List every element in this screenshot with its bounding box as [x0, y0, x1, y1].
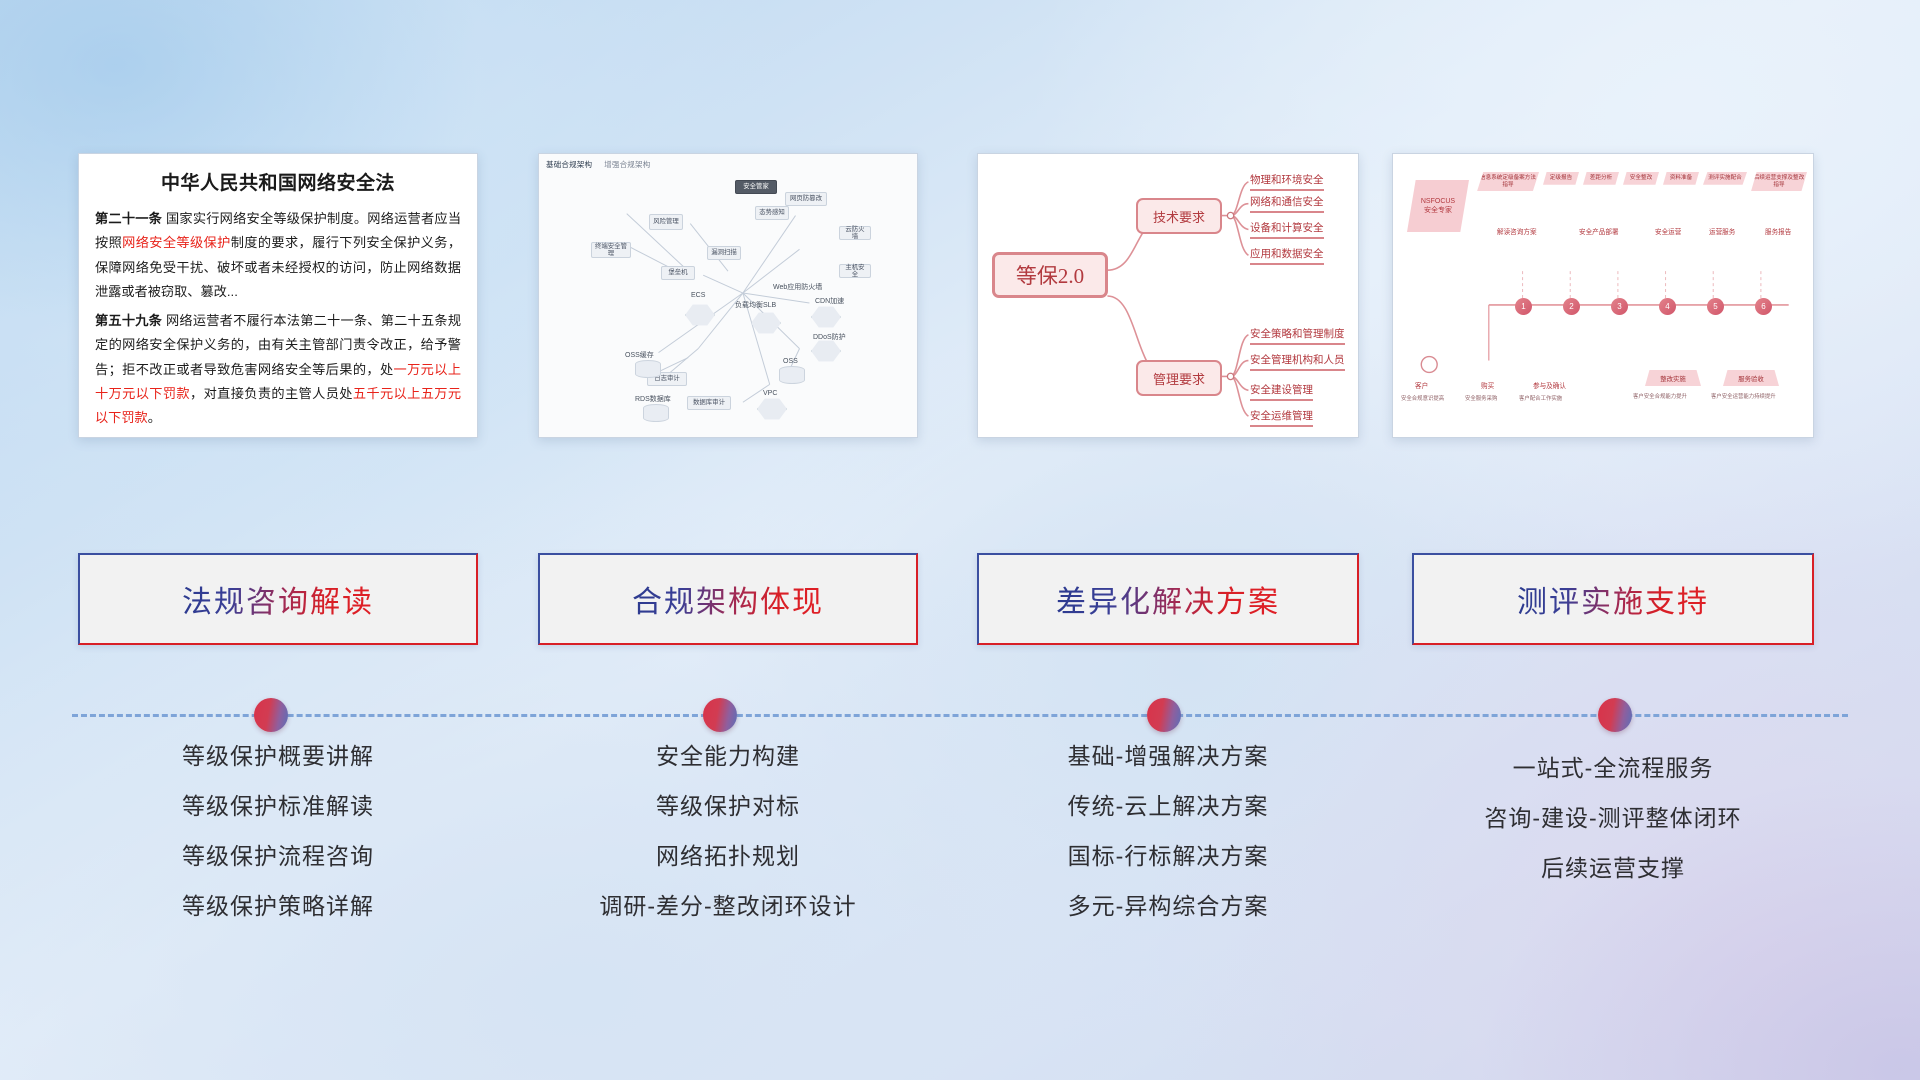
customer-avatar-icon — [1421, 357, 1437, 373]
mindmap-branch-technical: 技术要求 — [1136, 198, 1222, 234]
arch-label-ddos: DDoS防护 — [813, 332, 846, 342]
arch-node-bastion: 堡垒机 — [661, 266, 695, 280]
arch-label-ecs: ECS — [691, 292, 705, 299]
nsfocus-customer-label: 客户 — [1415, 380, 1428, 390]
nsfocus-bottom-1: 购买 — [1481, 380, 1494, 390]
arch-label-waf: Web应用防火墙 — [773, 282, 822, 292]
section-items-3: 基础-增强解决方案 传统-云上解决方案 国标-行标解决方案 多元-异构综合方案 — [977, 745, 1359, 945]
section-title-box-2[interactable]: 合规架构体现 — [538, 553, 918, 645]
section-items-2: 安全能力构建 等级保护对标 网络拓扑规划 调研-差分-整改闭环设计 — [538, 745, 918, 945]
nsfocus-brand-sub: 安全专家 — [1424, 206, 1452, 215]
list-item: 调研-差分-整改闭环设计 — [538, 895, 918, 918]
list-item: 国标-行标解决方案 — [977, 845, 1359, 868]
arch-node-endpoint: 终端安全管理 — [591, 242, 631, 258]
law-paragraph-1: 第二十一条 国家实行网络安全等级保护制度。网络运营者应当按照网络安全等级保护制度… — [95, 207, 461, 305]
timeline — [0, 693, 1920, 737]
arch-node-risk: 风险管理 — [649, 214, 683, 230]
arch-node-security-manager: 安全管家 — [735, 180, 777, 194]
mindmap-collapse-icon-tech — [1227, 212, 1233, 218]
nsfocus-step-2: 2 — [1563, 298, 1580, 315]
mindmap-branch-management: 管理要求 — [1136, 360, 1222, 396]
list-item: 多元-异构综合方案 — [977, 895, 1359, 918]
list-item: 等级保护流程咨询 — [78, 845, 478, 868]
arch-node-antitamper: 网页防篡改 — [785, 192, 827, 206]
nsfocus-brand-name: NSFOCUS — [1421, 197, 1455, 206]
arch-label-oss: OSS — [783, 358, 798, 365]
arch-node-situation: 态势感知 — [755, 206, 789, 220]
nsfocus-card: NSFOCUS 安全专家 信息系统定级备案方法指导 定级报告 差距分析 安全整改… — [1392, 153, 1814, 438]
architecture-diagram: 基础合规架构增强合规架构 安全管家 风险管理 — [539, 154, 917, 437]
list-item: 后续运营支撑 — [1412, 857, 1814, 880]
list-item: 传统-云上解决方案 — [977, 795, 1359, 818]
section-items-4: 一站式-全流程服务 咨询-建设-测评整体闭环 后续运营支撑 — [1412, 757, 1814, 907]
nsfocus-chip-7: 后续运营支撑及整改指导 — [1751, 172, 1807, 191]
arch-label-cdn: CDN加速 — [815, 296, 844, 306]
arch-label-rds: RDS数据库 — [635, 394, 671, 404]
mindmap-leaf-mgmt-3: 安全建设管理 — [1250, 382, 1313, 401]
nsfocus-brand-badge: NSFOCUS 安全专家 — [1407, 180, 1469, 232]
mindmap-root-node: 等保2.0 — [992, 252, 1108, 298]
list-item: 基础-增强解决方案 — [977, 745, 1359, 768]
architecture-connector-lines — [539, 154, 917, 437]
list-item: 等级保护标准解读 — [78, 795, 478, 818]
law-article-label-1: 第二十一条 — [95, 211, 162, 226]
list-item: 等级保护概要讲解 — [78, 745, 478, 768]
section-title-box-3[interactable]: 差异化解决方案 — [977, 553, 1359, 645]
mindmap-leaf-tech-1: 物理和环境安全 — [1250, 172, 1324, 191]
nsfocus-bottom-2: 参与及确认 — [1533, 380, 1566, 390]
nsfocus-service-5: 服务报告 — [1765, 226, 1791, 236]
nsfocus-bottom-4: 服务验收 — [1723, 370, 1779, 386]
nsfocus-service-1: 解读咨询方案 — [1497, 226, 1537, 236]
law-text-2c: 。 — [148, 410, 161, 425]
nsfocus-step-4: 4 — [1659, 298, 1676, 315]
nsfocus-chip-6: 测评实施配合 — [1703, 172, 1747, 185]
section-items-1: 等级保护概要讲解 等级保护标准解读 等级保护流程咨询 等级保护策略详解 — [78, 745, 478, 945]
timeline-dot-4[interactable] — [1598, 698, 1632, 732]
list-item: 网络拓扑规划 — [538, 845, 918, 868]
nsfocus-chip-2: 定级报告 — [1543, 172, 1579, 185]
mindmap-card: 等保2.0 技术要求 物理和环境安全 网络和通信安全 设备和计算安全 应用和数据… — [977, 153, 1359, 438]
arch-node-cloudfw: 云防火墙 — [839, 226, 871, 240]
nsfocus-step-3: 3 — [1611, 298, 1628, 315]
arch-node-hostsec: 主机安全 — [839, 264, 871, 278]
section-title-box-4[interactable]: 测评实施支持 — [1412, 553, 1814, 645]
mindmap-leaf-tech-4: 应用和数据安全 — [1250, 246, 1324, 265]
law-article-label-2: 第五十九条 — [95, 313, 162, 328]
law-highlight-1: 网络安全等级保护 — [122, 235, 231, 250]
architecture-card: 基础合规架构增强合规架构 安全管家 风险管理 — [538, 153, 918, 438]
mindmap-diagram: 等保2.0 技术要求 物理和环境安全 网络和通信安全 设备和计算安全 应用和数据… — [978, 154, 1358, 437]
nsfocus-step-1: 1 — [1515, 298, 1532, 315]
nsfocus-bottom-sub-2: 客户配合工作实施 — [1519, 394, 1562, 402]
timeline-dot-3[interactable] — [1147, 698, 1181, 732]
timeline-dot-1[interactable] — [254, 698, 288, 732]
nsfocus-chip-4: 安全整改 — [1623, 172, 1659, 185]
arch-cyl-oss — [779, 366, 805, 384]
nsfocus-chip-5: 资料准备 — [1663, 172, 1699, 185]
arch-label-vpc: VPC — [763, 390, 777, 397]
nsfocus-service-4: 运营服务 — [1709, 226, 1735, 236]
nsfocus-bottom-3: 整改实施 — [1645, 370, 1701, 386]
list-item: 安全能力构建 — [538, 745, 918, 768]
section-title-1: 法规咨询解读 — [182, 577, 374, 621]
mindmap-leaf-mgmt-4: 安全运维管理 — [1250, 408, 1313, 427]
section-title-3: 差异化解决方案 — [1056, 577, 1280, 621]
list-item: 等级保护策略详解 — [78, 895, 478, 918]
nsfocus-step-6: 6 — [1755, 298, 1772, 315]
nsfocus-chip-3: 差距分析 — [1583, 172, 1619, 185]
image-card-row: 中华人民共和国网络安全法 第二十一条 国家实行网络安全等级保护制度。网络运营者应… — [0, 153, 1920, 438]
nsfocus-diagram: NSFOCUS 安全专家 信息系统定级备案方法指导 定级报告 差距分析 安全整改… — [1393, 154, 1813, 437]
nsfocus-service-2: 安全产品部署 — [1579, 226, 1619, 236]
timeline-dashed-line — [72, 714, 1848, 717]
arch-cyl-rds — [643, 404, 669, 422]
arch-node-dbaudit: 数据库审计 — [687, 396, 731, 410]
timeline-dot-2[interactable] — [703, 698, 737, 732]
mindmap-collapse-icon-mgmt — [1227, 373, 1233, 379]
law-card-body: 中华人民共和国网络安全法 第二十一条 国家实行网络安全等级保护制度。网络运营者应… — [79, 154, 477, 438]
nsfocus-bottom-sub-1: 安全服务采购 — [1465, 394, 1497, 402]
mindmap-leaf-tech-3: 设备和计算安全 — [1250, 220, 1324, 239]
arch-label-osscache: OSS缓存 — [625, 350, 654, 360]
nsfocus-service-3: 安全运营 — [1655, 226, 1681, 236]
list-item: 咨询-建设-测评整体闭环 — [1412, 807, 1814, 830]
arch-cyl-osscache — [635, 360, 661, 378]
law-text-2b: ，对直接负责的主管人员处 — [190, 386, 353, 401]
mindmap-leaf-mgmt-1: 安全策略和管理制度 — [1250, 326, 1345, 345]
nsfocus-bottom-sub-4: 客户安全运营能力持续提升 — [1711, 392, 1776, 400]
section-title-box-1[interactable]: 法规咨询解读 — [78, 553, 478, 645]
section-title-2: 合规架构体现 — [632, 577, 824, 621]
nsfocus-chip-1: 信息系统定级备案方法指导 — [1477, 172, 1539, 191]
list-item: 等级保护对标 — [538, 795, 918, 818]
mindmap-leaf-tech-2: 网络和通信安全 — [1250, 194, 1324, 213]
section-title-4: 测评实施支持 — [1517, 577, 1709, 621]
section-title-row: 法规咨询解读 合规架构体现 差异化解决方案 测评实施支持 — [0, 553, 1920, 645]
slide-stage: 中华人民共和国网络安全法 第二十一条 国家实行网络安全等级保护制度。网络运营者应… — [0, 0, 1920, 1080]
law-paragraph-2: 第五十九条 网络运营者不履行本法第二十一条、第二十五条规定的网络安全保护义务的，… — [95, 309, 461, 431]
nsfocus-step-5: 5 — [1707, 298, 1724, 315]
nsfocus-bottom-sub-3: 客户安全合规能力提升 — [1633, 392, 1687, 400]
arch-label-slb: 负载均衡SLB — [735, 300, 776, 310]
law-card: 中华人民共和国网络安全法 第二十一条 国家实行网络安全等级保护制度。网络运营者应… — [78, 153, 478, 438]
law-card-title: 中华人民共和国网络安全法 — [95, 168, 461, 195]
list-item: 一站式-全流程服务 — [1412, 757, 1814, 780]
nsfocus-customer-sub: 安全合规意识提高 — [1401, 394, 1444, 402]
arch-node-vulnscan: 漏洞扫描 — [707, 246, 741, 260]
mindmap-leaf-mgmt-2: 安全管理机构和人员 — [1250, 352, 1345, 371]
